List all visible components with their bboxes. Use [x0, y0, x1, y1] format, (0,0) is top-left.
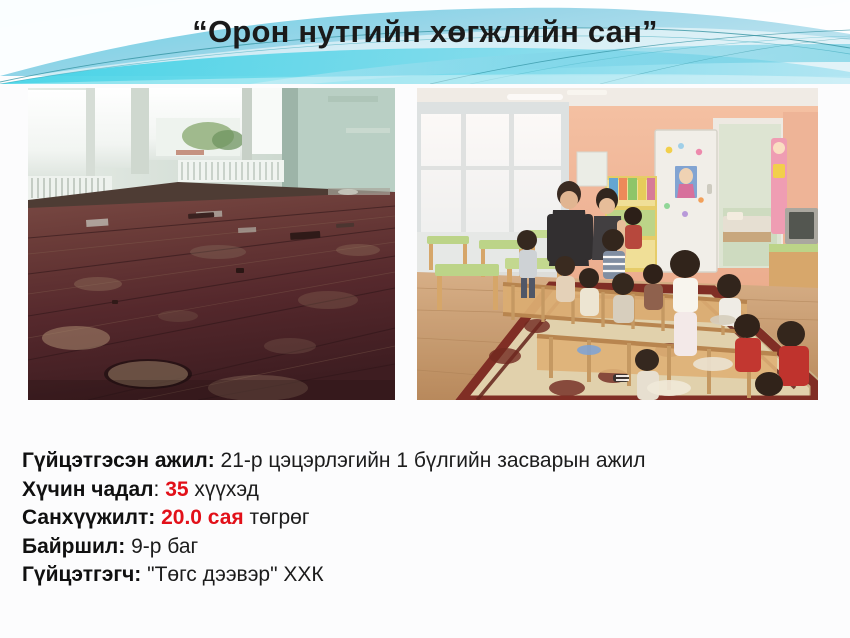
info-value-funding-post: төгрөг — [244, 506, 310, 529]
after-photo — [417, 88, 818, 400]
info-value-work: 21-р цэцэрлэгийн 1 бүлгийн засварын ажил — [215, 449, 646, 472]
after-photo-graphic — [417, 88, 818, 400]
info-line-capacity: Хүчин чадал: 35 хүүхэд — [22, 476, 832, 505]
before-photo — [28, 88, 395, 400]
info-line-location: Байршил: 9-р баг — [22, 533, 832, 562]
header-banner: “Орон нутгийн хөгжлийн сан” — [0, 0, 850, 84]
project-info-block: Гүйцэтгэсэн ажил: 21-р цэцэрлэгийн 1 бүл… — [22, 447, 832, 590]
info-line-contractor: Гүйцэтгэгч: "Төгс дээвэр" ХХК — [22, 561, 832, 590]
info-value-funding-amount: 20.0 сая — [161, 506, 244, 529]
info-value-capacity-number: 35 — [165, 478, 188, 501]
photo-row — [0, 88, 850, 400]
info-label-contractor: Гүйцэтгэгч: — [22, 563, 141, 586]
info-value-capacity-post: хүүхэд — [189, 478, 259, 501]
info-line-work: Гүйцэтгэсэн ажил: 21-р цэцэрлэгийн 1 бүл… — [22, 447, 832, 476]
info-label-capacity: Хүчин чадал — [22, 478, 154, 501]
info-value-location: 9-р баг — [125, 535, 198, 558]
info-label-location: Байршил: — [22, 535, 125, 558]
before-photo-graphic — [28, 88, 395, 400]
info-value-contractor: "Төгс дээвэр" ХХК — [141, 563, 323, 586]
info-label-work: Гүйцэтгэсэн ажил: — [22, 449, 215, 472]
page-title: “Орон нутгийн хөгжлийн сан” — [0, 14, 850, 50]
info-line-funding: Санхүүжилт: 20.0 сая төгрөг — [22, 504, 832, 533]
info-label-funding: Санхүүжилт: — [22, 506, 155, 529]
